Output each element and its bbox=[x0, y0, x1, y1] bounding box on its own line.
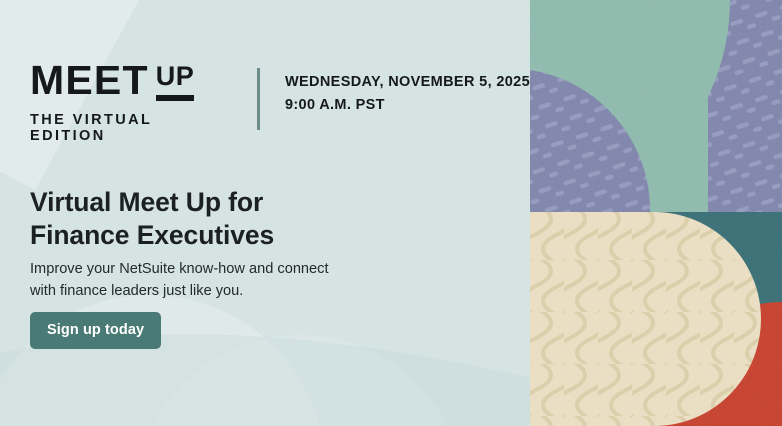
banner-description: Improve your NetSuite know-how and conne… bbox=[30, 258, 329, 302]
headline-line-2: Finance Executives bbox=[30, 220, 274, 250]
logo-underline-bar bbox=[156, 95, 195, 101]
vertical-divider bbox=[257, 68, 260, 130]
description-line-1: Improve your NetSuite know-how and conne… bbox=[30, 261, 329, 277]
promo-banner: MEET UP THE VIRTUAL EDITION WEDNESDAY, N… bbox=[0, 0, 782, 426]
sign-up-button[interactable]: Sign up today bbox=[30, 312, 161, 349]
logo-wordmark: MEET UP bbox=[30, 62, 224, 101]
logo-meet-text: MEET bbox=[30, 62, 149, 100]
decorative-art-panel bbox=[530, 0, 782, 426]
headline-line-1: Virtual Meet Up for bbox=[30, 187, 263, 217]
logo-subtitle: THE VIRTUAL EDITION bbox=[30, 112, 224, 144]
description-line-2: with finance leaders just like you. bbox=[30, 283, 243, 299]
page-title: Virtual Meet Up for Finance Executives bbox=[30, 186, 274, 253]
art-panel-svg bbox=[530, 0, 782, 426]
meetup-logo: MEET UP THE VIRTUAL EDITION bbox=[30, 62, 224, 144]
event-datetime: WEDNESDAY, NOVEMBER 5, 2025 9:00 A.M. PS… bbox=[285, 71, 530, 118]
logo-up-text: UP bbox=[156, 63, 195, 90]
banner-content: MEET UP THE VIRTUAL EDITION WEDNESDAY, N… bbox=[0, 0, 530, 426]
event-time: 9:00 A.M. PST bbox=[285, 94, 530, 117]
logo-and-date-row: MEET UP THE VIRTUAL EDITION WEDNESDAY, N… bbox=[30, 62, 530, 144]
logo-up-group: UP bbox=[156, 63, 195, 101]
event-date: WEDNESDAY, NOVEMBER 5, 2025 bbox=[285, 71, 530, 94]
